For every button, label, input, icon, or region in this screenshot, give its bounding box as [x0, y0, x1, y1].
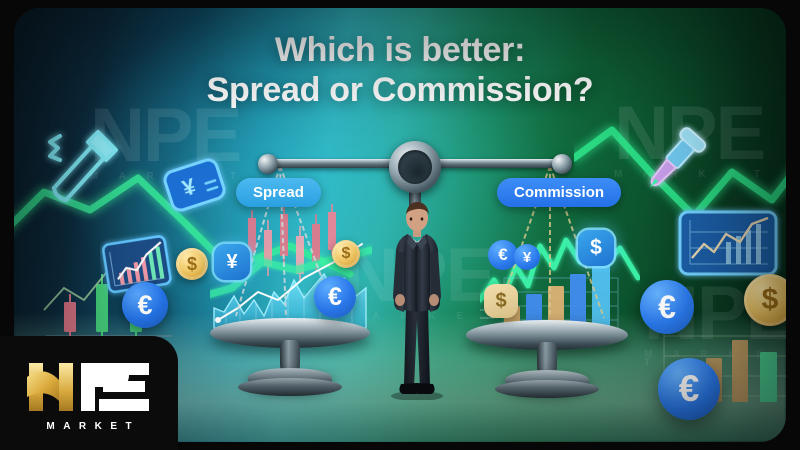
badge-spread-label: Spread [253, 184, 304, 201]
headline-line-2: Spread or Commission? [14, 70, 786, 110]
logo-mark [19, 355, 159, 419]
banner-frame: NPE M A R K E T NPE M A R K E T NPE M A … [0, 0, 800, 450]
euro-icon-left-pan: € [314, 276, 356, 318]
beam-knob-left [258, 154, 278, 174]
euro-badge-right-lower: € [658, 358, 720, 420]
brand-logo[interactable]: MARKET [0, 336, 178, 450]
pan-base-ring-left [238, 378, 342, 396]
watermark-sub: M A R K E T [644, 351, 786, 367]
watermark-mark: NPE [614, 104, 769, 165]
badge-spread[interactable]: Spread [236, 178, 321, 207]
scale-pan-right [466, 320, 628, 400]
beam-fulcrum-hub [389, 141, 441, 193]
badge-commission[interactable]: Commission [497, 178, 621, 207]
yen-icon-right-pan: ¥ [514, 244, 540, 270]
logo-subtitle: MARKET [38, 421, 140, 432]
balance-beam [250, 146, 580, 180]
pan-base-ring-right [495, 380, 599, 398]
euro-badge-left: € [122, 282, 168, 328]
headline-line-1: Which is better: [275, 31, 525, 69]
businessman-figure [382, 200, 452, 400]
dollar-gold-square-right-pan: $ [484, 284, 518, 318]
dollar-icon-right-pan: $ [578, 230, 614, 266]
headline: Which is better: Spread or Commission? [14, 30, 786, 110]
badge-commission-label: Commission [514, 184, 604, 201]
watermark-logo: NPE M A R K E T [614, 104, 769, 179]
watermark-mark: NPE [90, 106, 245, 167]
yen-icon-left-pan: ¥ [214, 244, 250, 280]
watermark-sub: M A R K E T [614, 171, 769, 179]
gold-coin-left-pan: $ [332, 240, 360, 268]
beam-knob-right [552, 154, 572, 174]
watermark-sub: M A R K E T [90, 173, 245, 181]
euro-badge-right-upper: € [640, 280, 694, 334]
scale-pan-left [210, 318, 370, 398]
gold-coin-dollar-left: $ [176, 248, 208, 280]
watermark-logo: NPE M A R K E T [90, 106, 245, 181]
